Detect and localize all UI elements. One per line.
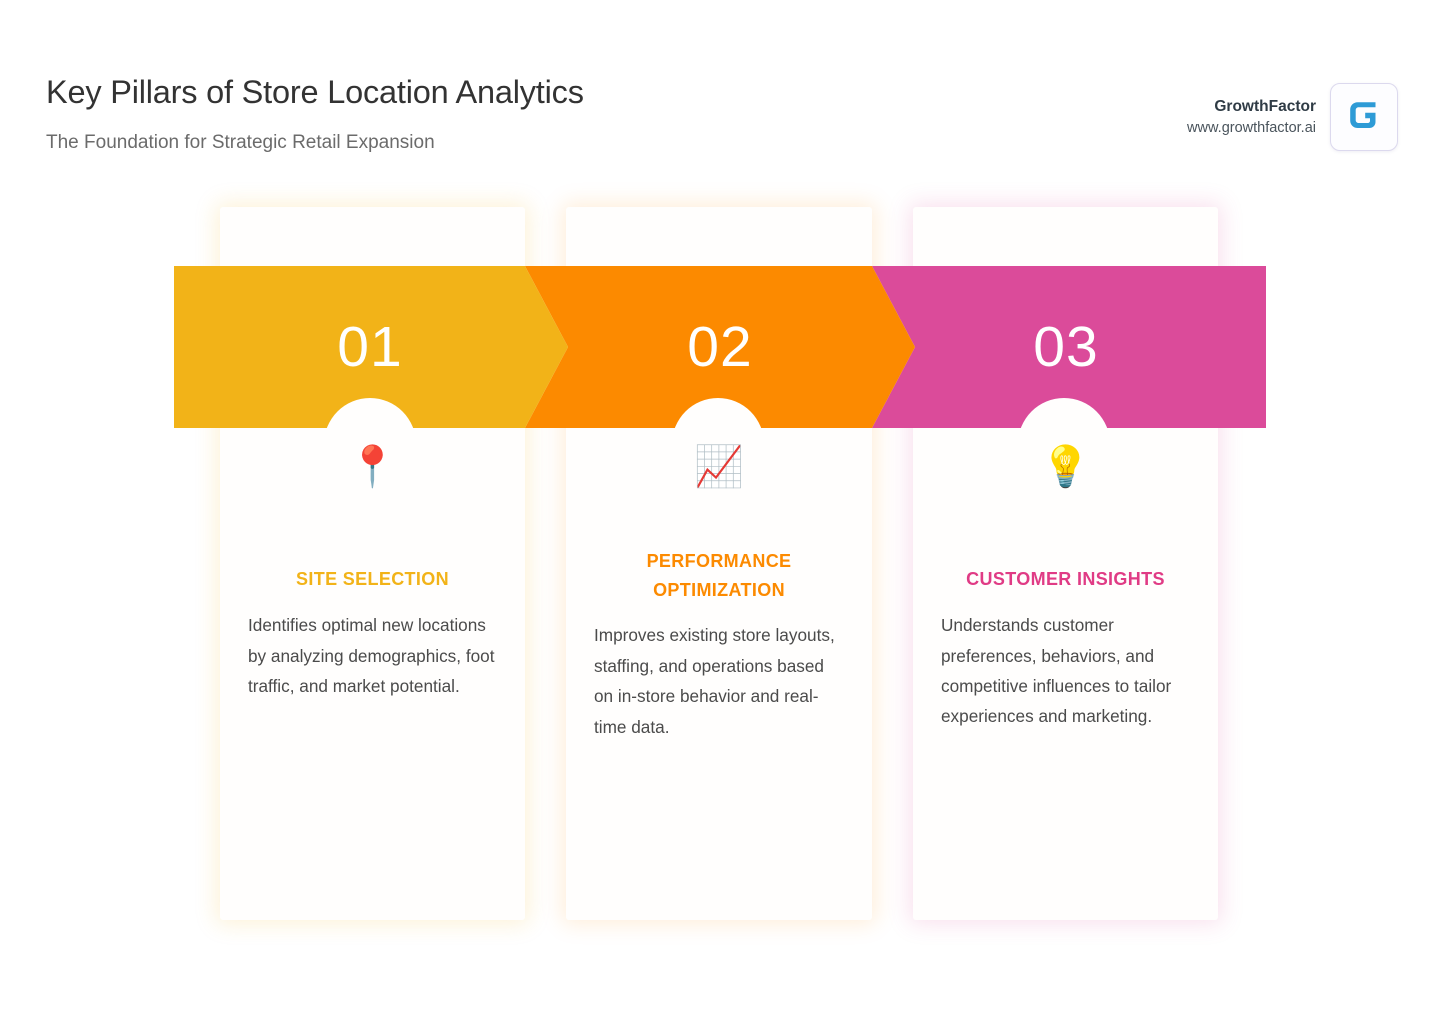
card-description: Understands customer preferences, behavi… xyxy=(941,610,1190,732)
card-body: 📍 SITE SELECTION Identifies optimal new … xyxy=(220,439,525,701)
card-body: 💡 CUSTOMER INSIGHTS Understands customer… xyxy=(913,439,1218,732)
chevron-segment-3 xyxy=(872,266,1266,428)
map-pin-icon: 📍 xyxy=(248,439,497,495)
card-heading: PERFORMANCE OPTIMIZATION xyxy=(594,547,844,605)
step-chevron-banner: 01 02 03 xyxy=(174,266,1266,428)
brand-logo xyxy=(1330,83,1398,151)
chevron-segment-2 xyxy=(525,266,915,428)
card-heading: SITE SELECTION xyxy=(248,565,497,594)
growthfactor-g-icon xyxy=(1345,96,1383,139)
chart-increasing-icon: 📈 xyxy=(594,439,844,495)
brand-text: GrowthFactor www.growthfactor.ai xyxy=(1187,97,1316,137)
brand-url: www.growthfactor.ai xyxy=(1187,119,1316,138)
page-header: Key Pillars of Store Location Analytics … xyxy=(0,0,1440,190)
page-title: Key Pillars of Store Location Analytics xyxy=(46,74,584,111)
page-subtitle: The Foundation for Strategic Retail Expa… xyxy=(46,132,435,154)
card-description: Identifies optimal new locations by anal… xyxy=(248,610,497,701)
brand-name: GrowthFactor xyxy=(1187,97,1316,117)
light-bulb-icon: 💡 xyxy=(941,439,1190,495)
card-description: Improves existing store layouts, staffin… xyxy=(594,620,844,742)
chevron-segment-1 xyxy=(174,266,568,428)
card-body: 📈 PERFORMANCE OPTIMIZATION Improves exis… xyxy=(566,439,872,742)
brand-block: GrowthFactor www.growthfactor.ai xyxy=(1187,83,1398,151)
card-heading: CUSTOMER INSIGHTS xyxy=(941,565,1190,594)
